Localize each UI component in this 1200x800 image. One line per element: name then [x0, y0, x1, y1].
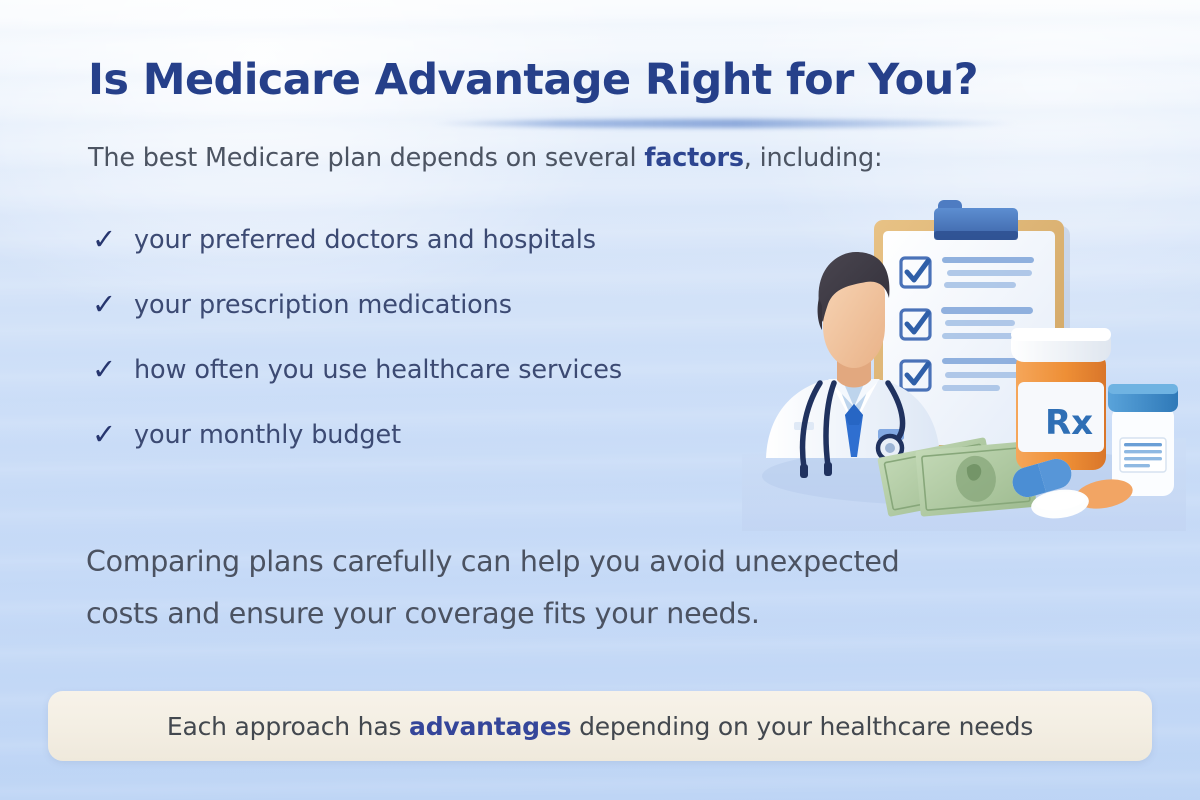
check-icon: ✓: [90, 290, 134, 319]
list-item: ✓ your prescription medications: [90, 272, 790, 337]
title-underline-accent: [430, 119, 1020, 128]
factors-checklist: ✓ your preferred doctors and hospitals ✓…: [90, 207, 790, 467]
small-blue-cap-bottle: [1108, 384, 1178, 496]
medicare-healthcare-illustration: Rx: [742, 186, 1186, 531]
rx-label: Rx: [1045, 403, 1093, 443]
footer-text-before: Each approach has: [167, 712, 409, 741]
check-icon: ✓: [90, 420, 134, 449]
list-item: ✓ your monthly budget: [90, 402, 790, 467]
intro-highlight-factors: factors: [644, 143, 743, 173]
intro-line: The best Medicare plan depends on severa…: [88, 143, 882, 173]
intro-text-before: The best Medicare plan depends on severa…: [88, 143, 644, 173]
list-item: ✓ your preferred doctors and hospitals: [90, 207, 790, 272]
body-paragraph-line-2: costs and ensure your coverage fits your…: [86, 588, 1116, 640]
footer-text-after: depending on your healthcare needs: [571, 712, 1033, 741]
footer-banner: Each approach has advantages depending o…: [48, 691, 1152, 761]
intro-text-after: , including:: [744, 143, 883, 173]
footer-banner-text: Each approach has advantages depending o…: [167, 712, 1033, 741]
body-paragraph-line-1: Comparing plans carefully can help you a…: [86, 536, 1116, 588]
list-item-label: your monthly budget: [134, 420, 401, 450]
check-icon: ✓: [90, 355, 134, 384]
body-paragraph: Comparing plans carefully can help you a…: [86, 536, 1116, 640]
footer-highlight-advantages: advantages: [409, 712, 571, 741]
check-icon: ✓: [90, 225, 134, 254]
list-item-label: your preferred doctors and hospitals: [134, 225, 596, 255]
list-item-label: how often you use healthcare services: [134, 355, 622, 385]
infographic-canvas: Is Medicare Advantage Right for You? The…: [0, 0, 1200, 800]
list-item-label: your prescription medications: [134, 290, 512, 320]
page-title: Is Medicare Advantage Right for You?: [88, 58, 1068, 104]
rx-pill-bottle: Rx: [1011, 328, 1111, 470]
list-item: ✓ how often you use healthcare services: [90, 337, 790, 402]
